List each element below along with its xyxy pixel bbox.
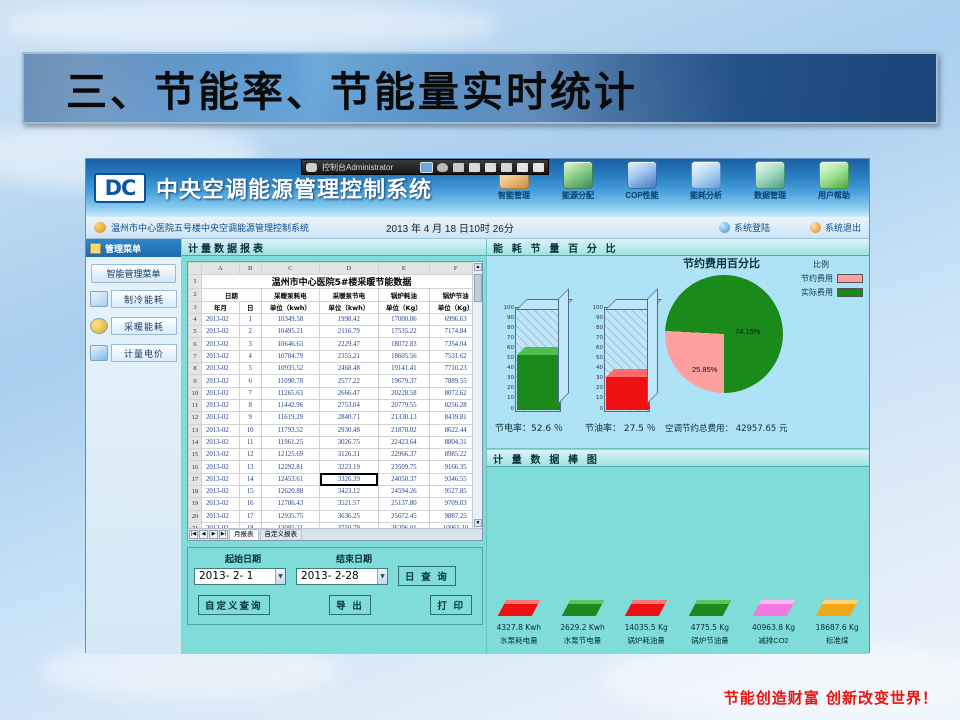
table-row: 152013-021212125.693126.3122966.378985.2… — [189, 449, 482, 461]
cell-pump-consume[interactable]: 10784.79 — [261, 350, 319, 362]
cell-day[interactable]: 8 — [239, 399, 261, 411]
toolbar-label: 智能管理 — [483, 190, 545, 201]
axis-tick: 90 — [507, 315, 514, 321]
book-icon — [691, 161, 721, 189]
table-row: 72013-02410784.792355.2118605.567531.62 — [189, 350, 482, 362]
heating-icon — [90, 318, 108, 334]
cell-day[interactable]: 9 — [239, 412, 261, 424]
sheet-tab-custom[interactable]: 自定义报表 — [260, 529, 303, 540]
gauge-frame — [515, 307, 561, 412]
axis-tick: 100 — [504, 305, 515, 311]
axis-tick: 40 — [507, 365, 514, 371]
bar-item-co2: 40963.8 Kg 减排CO2 — [742, 600, 806, 646]
cell-pump-consume[interactable]: 11793.52 — [261, 424, 319, 436]
cell-yearmonth[interactable]: 2013-02 — [202, 449, 240, 461]
cell-pump-consume[interactable]: 10349.58 — [261, 313, 319, 325]
gauge-front — [606, 377, 649, 410]
cell-pump-save[interactable]: 2753.04 — [320, 399, 378, 411]
axis-tick: 30 — [507, 375, 514, 381]
cell-yearmonth[interactable]: 2013-02 — [202, 522, 240, 528]
cell-boiler-consume[interactable]: 17000.06 — [378, 313, 430, 325]
system-exit-label: 系统退出 — [825, 221, 861, 234]
cell-boiler-consume[interactable]: 25137.80 — [378, 498, 430, 510]
cell-pump-save[interactable]: 2116.79 — [320, 326, 378, 338]
cell-pump-save[interactable]: 3636.25 — [320, 510, 378, 522]
column-header-b[interactable]: B — [239, 263, 261, 275]
axis-tick: 80 — [596, 325, 603, 331]
column-header-d[interactable]: D — [320, 263, 378, 275]
app-title: 中央空调能源管理控制系统 — [156, 172, 432, 204]
cell-pump-save[interactable]: 2229.47 — [320, 338, 378, 350]
axis-tick: 10 — [507, 395, 514, 401]
sheet-tab-bar: |◀ ◀ ▶ ▶| 月报表 自定义报表 — [188, 528, 482, 540]
gauge-top — [606, 369, 657, 377]
row-number[interactable]: 5 — [189, 326, 202, 338]
table-row: 132013-021011793.522930.4821878.028622.4… — [189, 424, 482, 436]
cell-pump-consume[interactable]: 12786.43 — [261, 498, 319, 510]
legend-swatch-actual — [837, 288, 863, 297]
axis-tick: 80 — [507, 325, 514, 331]
remote-console-toolbar[interactable]: 控制台Administrator — [301, 159, 549, 175]
cell-day[interactable]: 13 — [239, 461, 261, 473]
cell-pump-consume[interactable]: 12620.88 — [261, 486, 319, 498]
oil-rate-caption: 节油率： 27.5 ％ — [585, 421, 656, 434]
cell-pump-consume[interactable]: 11619.29 — [261, 412, 319, 424]
bar-label: 锅炉节油量 — [678, 635, 742, 646]
sidebar-item-label: 采暖能耗 — [111, 317, 177, 335]
start-date-input[interactable]: 2013- 2- 1 ▼ — [194, 568, 286, 585]
table-row: 2 日期 采暖泵耗电 采暖泵节电 锅炉耗油 锅炉节油 — [189, 289, 482, 301]
cell-boiler-consume[interactable]: 22423.64 — [378, 436, 430, 448]
legend-item-saved: 节约费用 — [801, 273, 863, 284]
cell-pump-consume[interactable]: 10646.63 — [261, 338, 319, 350]
cell-pump-consume[interactable]: 12935.75 — [261, 510, 319, 522]
savings-pie-chart — [665, 275, 783, 393]
app-status-bar: 温州市中心医院五号楼中央空调能源管理控制系统 2013 年 4 月 18 日10… — [86, 217, 869, 239]
electric-rate-caption: 节电率：52.6 ％ — [495, 421, 563, 434]
table-row: 112013-02811442.962753.0420779.558256.28 — [189, 399, 482, 411]
price-icon — [90, 345, 108, 361]
cell-yearmonth[interactable]: 2013-02 — [202, 375, 240, 387]
axis-tick: 0 — [600, 406, 604, 412]
cell-yearmonth[interactable]: 2013-02 — [202, 473, 240, 485]
cell-yearmonth[interactable]: 2013-02 — [202, 424, 240, 436]
query-button-row: 自定义查询 导 出 打 印 — [188, 587, 482, 615]
row-number[interactable]: 14 — [189, 436, 202, 448]
cell-pump-save[interactable]: 3126.31 — [320, 449, 378, 461]
axis-tick: 60 — [596, 345, 603, 351]
column-header-c[interactable]: C — [261, 263, 319, 275]
cell-boiler-consume[interactable]: 20779.55 — [378, 399, 430, 411]
prev-sheet-icon[interactable]: ◀ — [199, 530, 208, 539]
header-pump-consume: 采暖泵耗电 — [261, 289, 319, 301]
row-number[interactable]: 6 — [189, 338, 202, 350]
cell-day[interactable]: 16 — [239, 498, 261, 510]
header-yearmonth: 年月 — [202, 301, 240, 313]
axis-tick: 20 — [507, 385, 514, 391]
row-number[interactable]: 16 — [189, 461, 202, 473]
cell-yearmonth[interactable]: 2013-02 — [202, 387, 240, 399]
cell-day[interactable]: 14 — [239, 473, 261, 485]
chevron-down-icon[interactable]: ▼ — [275, 569, 285, 584]
scroll-up-icon[interactable]: ▲ — [474, 263, 482, 271]
legend-item-actual: 实际费用 — [801, 287, 863, 298]
datetime-display: 2013 年 4 月 18 日10时 26分 — [386, 220, 514, 235]
cell-day[interactable]: 6 — [239, 375, 261, 387]
gauge-side — [649, 361, 657, 402]
sidebar: 管理菜单 智能管理菜单 制冷能耗 采暖能耗 计量电价 — [86, 239, 182, 654]
bar-item-boiler-save: 4775.5 Kg 锅炉节油量 — [678, 600, 742, 646]
cell-boiler-consume[interactable]: 24050.37 — [378, 473, 430, 485]
cell-pump-consume[interactable]: 11442.96 — [261, 399, 319, 411]
charts-column: 能 耗 节 量 百 分 比 100 90 80 70 60 50 40 30 — [487, 239, 869, 654]
cell-yearmonth[interactable]: 2013-02 — [202, 412, 240, 424]
bar-chip-icon — [561, 600, 604, 616]
folder-icon[interactable] — [453, 163, 464, 172]
bar-value: 14035.5 Kg — [614, 623, 678, 632]
cell-pump-save[interactable]: 3423.12 — [320, 486, 378, 498]
cell-pump-save[interactable]: 2468.48 — [320, 363, 378, 375]
app-body: 管理菜单 智能管理菜单 制冷能耗 采暖能耗 计量电价 计量数据报表 — [86, 239, 869, 654]
sidebar-item-intelligent-menu[interactable]: 智能管理菜单 — [91, 264, 176, 283]
cell-boiler-consume[interactable]: 17535.22 — [378, 326, 430, 338]
sheet-title: 温州市中心医院5#楼采暖节能数据 — [202, 275, 482, 289]
row-number[interactable]: 20 — [189, 510, 202, 522]
sidebar-header-label: 管理菜单 — [105, 242, 141, 255]
mouse-icon[interactable] — [437, 163, 448, 172]
corner-cell[interactable] — [189, 263, 202, 275]
end-date-input[interactable]: 2013- 2-28 ▼ — [296, 568, 388, 585]
spreadsheet[interactable]: A B C D E F 1 — [187, 261, 483, 541]
user-icon — [819, 161, 849, 189]
row-number[interactable]: 11 — [189, 399, 202, 411]
globe-icon — [563, 161, 593, 189]
row-number[interactable]: 1 — [189, 275, 202, 289]
end-date-label: 结束日期 — [298, 552, 410, 565]
volume-icon[interactable] — [533, 163, 544, 172]
day-query-button[interactable]: 日 查 询 — [398, 566, 456, 586]
energy-panel-title: 能 耗 节 量 百 分 比 — [487, 239, 869, 256]
bar-chip-icon — [625, 600, 668, 616]
total-savings-label: 空调节约总费用： 42957.65 元 — [665, 422, 787, 434]
cell-day[interactable]: 5 — [239, 363, 261, 375]
row-number[interactable]: 21 — [189, 522, 202, 528]
header-unit-c: 单位（kwh） — [261, 301, 319, 313]
cell-pump-consume[interactable]: 12453.61 — [261, 473, 319, 485]
table-row: 92013-02611090.782577.2219679.377889.55 — [189, 375, 482, 387]
axis-tick: 40 — [596, 365, 603, 371]
query-row: 2013- 2- 1 ▼ 2013- 2-28 ▼ 日 查 询 — [188, 565, 482, 587]
print-button[interactable]: 打 印 — [430, 595, 472, 615]
bar-label: 减排CO2 — [742, 635, 806, 646]
cell-day[interactable]: 1 — [239, 313, 261, 325]
gauge-frame — [604, 307, 650, 412]
axis-tick: 90 — [596, 315, 603, 321]
cell-boiler-consume[interactable]: 24594.26 — [378, 486, 430, 498]
system-exit-button[interactable]: 系统退出 — [810, 221, 861, 234]
cell-day[interactable]: 11 — [239, 436, 261, 448]
hand-icon[interactable] — [501, 163, 512, 172]
table-row: 172013-021412453.613326.3924050.379346.5… — [189, 473, 482, 485]
monitor-icon[interactable] — [421, 163, 432, 172]
cell-yearmonth[interactable]: 2013-02 — [202, 510, 240, 522]
bar-value: 4327.8 Kwh — [487, 623, 551, 632]
cell-day[interactable]: 18 — [239, 522, 261, 528]
table-row: 3 年月 日 单位（kwh） 单位（kwh） 单位（Kg） 单位（Kg） — [189, 301, 482, 313]
cell-boiler-consume[interactable]: 23509.75 — [378, 461, 430, 473]
pointer-icon[interactable] — [469, 163, 480, 172]
bar-label: 锅炉耗油量 — [614, 635, 678, 646]
cell-pump-save[interactable]: 2930.48 — [320, 424, 378, 436]
table-row: 202013-021712935.753636.2525672.459887.2… — [189, 510, 482, 522]
sidebar-item-label: 计量电价 — [111, 344, 177, 362]
table-row: 192013-021612786.433521.5725137.809709.0… — [189, 498, 482, 510]
cell-yearmonth[interactable]: 2013-02 — [202, 399, 240, 411]
bar-value: 4775.5 Kg — [678, 623, 742, 632]
toolbar-item-energy-allocation[interactable]: 能源分配 — [547, 161, 609, 201]
toolbar-item-user-help[interactable]: 用户帮助 — [803, 161, 865, 201]
login-icon — [719, 222, 730, 233]
console-title: 控制台Administrator — [322, 162, 393, 173]
first-sheet-icon[interactable]: |◀ — [189, 530, 198, 539]
custom-query-button[interactable]: 自定义查询 — [198, 595, 270, 615]
fullscreen-icon[interactable] — [485, 163, 496, 172]
bar-label: 水泵节电量 — [551, 635, 615, 646]
slide-slogan: 节能创造财富 创新改变世界！ — [724, 687, 938, 708]
cell-pump-save[interactable]: 3326.39 — [320, 473, 378, 485]
toolbar-label: 用户帮助 — [803, 190, 865, 201]
gauge-front — [517, 355, 560, 410]
cell-boiler-consume[interactable]: 25672.45 — [378, 510, 430, 522]
row-number[interactable]: 19 — [189, 498, 202, 510]
scroll-down-icon[interactable]: ▼ — [474, 519, 482, 527]
table-row: 162013-021312292.813223.1923509.759166.3… — [189, 461, 482, 473]
pie-legend: 节约费用 实际费用 — [801, 273, 863, 301]
report-table: A B C D E F 1 — [188, 262, 482, 528]
legend-title: 比例 — [813, 259, 829, 270]
table-row: 182013-021512620.883423.1224594.269527.8… — [189, 486, 482, 498]
table-row: 102013-02711265.632666.4720228.588072.62 — [189, 387, 482, 399]
cell-yearmonth[interactable]: 2013-02 — [202, 326, 240, 338]
cell-pump-save[interactable]: 2577.22 — [320, 375, 378, 387]
gauge-axis: 100 90 80 70 60 50 40 30 20 10 0 — [590, 307, 604, 412]
column-header-row: A B C D E F — [189, 263, 482, 275]
cell-pump-save[interactable]: 2840.71 — [320, 412, 378, 424]
cell-day[interactable]: 7 — [239, 387, 261, 399]
table-row: 1 温州市中心医院5#楼采暖节能数据 — [189, 275, 482, 289]
cell-boiler-consume[interactable]: 26206.01 — [378, 522, 430, 528]
toolbar-label: 能源分配 — [547, 190, 609, 201]
slide-title-banner: 三、节能率、节能量实时统计 — [22, 52, 938, 124]
cell-yearmonth[interactable]: 2013-02 — [202, 338, 240, 350]
gauge-fill-electric — [517, 355, 560, 410]
axis-tick: 50 — [596, 355, 603, 361]
toolbar-item-data-management[interactable]: 数据管理 — [739, 161, 801, 201]
pie-chart-title: 节约费用百分比 — [683, 255, 760, 271]
header-boiler-consume: 锅炉耗油 — [378, 289, 430, 301]
cell-pump-save[interactable]: 3223.19 — [320, 461, 378, 473]
query-labels: 起始日期 结束日期 — [188, 548, 482, 565]
row-number[interactable]: 4 — [189, 313, 202, 325]
scroll-thumb[interactable] — [474, 274, 482, 302]
cell-yearmonth[interactable]: 2013-02 — [202, 436, 240, 448]
site-icon — [94, 222, 106, 233]
cell-pump-consume[interactable]: 13085.21 — [261, 522, 319, 528]
menu-icon — [90, 243, 101, 254]
cell-boiler-consume[interactable]: 21330.13 — [378, 412, 430, 424]
bar-panel-title: 计 量 数 据 棒 图 — [487, 450, 869, 467]
header-date: 日期 — [202, 289, 262, 301]
bar-value: 2629.2 Kwh — [551, 623, 615, 632]
toolbar-label: 数据管理 — [739, 190, 801, 201]
cell-yearmonth[interactable]: 2013-02 — [202, 313, 240, 325]
sidebar-item-cooling[interactable]: 制冷能耗 — [90, 290, 177, 308]
report-panel-title: 计量数据报表 — [182, 239, 486, 256]
cell-yearmonth[interactable]: 2013-02 — [202, 498, 240, 510]
bar-items-row: 4327.8 Kwh 水泵耗电量 2629.2 Kwh 水泵节电量 14035.… — [487, 600, 869, 646]
energy-percent-panel: 能 耗 节 量 百 分 比 100 90 80 70 60 50 40 30 — [487, 239, 869, 449]
cell-boiler-consume[interactable]: 21878.02 — [378, 424, 430, 436]
cell-pump-save[interactable]: 3750.79 — [320, 522, 378, 528]
next-sheet-icon[interactable]: ▶ — [209, 530, 218, 539]
bar-chip-icon — [816, 600, 859, 616]
bar-item-standard-coal: 18687.6 Kg 标准煤 — [805, 600, 869, 646]
cell-day[interactable]: 4 — [239, 350, 261, 362]
axis-tick: 70 — [507, 335, 514, 341]
site-name: 温州市中心医院五号楼中央空调能源管理控制系统 — [111, 221, 309, 234]
row-number[interactable]: 2 — [189, 289, 202, 301]
bar-item-boiler-consume: 14035.5 Kg 锅炉耗油量 — [614, 600, 678, 646]
header-day: 日 — [239, 301, 261, 313]
cell-yearmonth[interactable]: 2013-02 — [202, 363, 240, 375]
row-number[interactable]: 8 — [189, 363, 202, 375]
legend-label: 节约费用 — [801, 273, 833, 284]
pen-icon — [627, 161, 657, 189]
gauge-fill-oil — [606, 377, 649, 410]
bar-label: 标准煤 — [805, 635, 869, 646]
cell-pump-consume[interactable]: 11961.25 — [261, 436, 319, 448]
sheet-tab-monthly[interactable]: 月报表 — [229, 529, 259, 540]
cell-pump-save[interactable]: 3521.57 — [320, 498, 378, 510]
cell-pump-save[interactable]: 3026.75 — [320, 436, 378, 448]
cell-boiler-consume[interactable]: 20228.58 — [378, 387, 430, 399]
toolbar-label: COP性能 — [611, 190, 673, 201]
bar-label: 水泵耗电量 — [487, 635, 551, 646]
gauge-side — [560, 339, 568, 402]
sidebar-item-price[interactable]: 计量电价 — [90, 344, 177, 362]
gauge-axis: 100 90 80 70 60 50 40 30 20 10 0 — [501, 307, 515, 412]
cell-pump-consume[interactable]: 12292.81 — [261, 461, 319, 473]
bar-chip-icon — [498, 600, 541, 616]
cell-pump-consume[interactable]: 10495.21 — [261, 326, 319, 338]
gauge-top — [517, 347, 568, 355]
sidebar-header: 管理菜单 — [86, 239, 181, 257]
cell-boiler-consume[interactable]: 19141.41 — [378, 363, 430, 375]
bar-value: 40963.8 Kg — [742, 623, 806, 632]
cell-day[interactable]: 12 — [239, 449, 261, 461]
pie-label-saved: 25.85% — [692, 365, 717, 374]
cell-pump-consume[interactable]: 11090.78 — [261, 375, 319, 387]
toolbar-item-cop-performance[interactable]: COP性能 — [611, 161, 673, 201]
cell-pump-consume[interactable]: 12125.69 — [261, 449, 319, 461]
axis-tick: 20 — [596, 385, 603, 391]
header-unit-e: 单位（Kg） — [378, 301, 430, 313]
system-login-button[interactable]: 系统登陆 — [719, 221, 770, 234]
cell-pump-consume[interactable]: 10935.52 — [261, 363, 319, 375]
row-number[interactable]: 13 — [189, 424, 202, 436]
export-button[interactable]: 导 出 — [329, 595, 371, 615]
report-column: 计量数据报表 A B C D E — [182, 239, 487, 654]
cell-boiler-consume[interactable]: 18072.83 — [378, 338, 430, 350]
row-number[interactable]: 9 — [189, 375, 202, 387]
vertical-scrollbar[interactable]: ▲ ▼ — [472, 262, 482, 528]
cell-day[interactable]: 3 — [239, 338, 261, 350]
bar-chip-icon — [689, 600, 732, 616]
column-header-a[interactable]: A — [202, 263, 240, 275]
last-sheet-icon[interactable]: ▶| — [219, 530, 228, 539]
cell-day[interactable]: 17 — [239, 510, 261, 522]
bar-value: 18687.6 Kg — [805, 623, 869, 632]
cooling-icon — [90, 291, 108, 307]
measurement-bar-panel: 计 量 数 据 棒 图 4327.8 Kwh 水泵耗电量 2629.2 Kwh … — [487, 450, 869, 654]
cell-boiler-consume[interactable]: 19679.37 — [378, 375, 430, 387]
sidebar-item-label: 制冷能耗 — [111, 290, 177, 308]
header-unit-d: 单位（kwh） — [320, 301, 378, 313]
page-title: 三、节能率、节能量实时统计 — [66, 58, 638, 118]
cell-day[interactable]: 15 — [239, 486, 261, 498]
cell-pump-save[interactable]: 1998.42 — [320, 313, 378, 325]
axis-tick: 30 — [596, 375, 603, 381]
cell-pump-consume[interactable]: 11265.63 — [261, 387, 319, 399]
bar-chip-icon — [752, 600, 795, 616]
toolbar-item-consumption-analysis[interactable]: 能耗分析 — [675, 161, 737, 201]
report-table-body: 1 温州市中心医院5#楼采暖节能数据 2 日期 采暖泵耗电 采暖泵节电 锅炉耗油 — [189, 275, 482, 528]
keyboard-icon[interactable] — [517, 163, 528, 172]
legend-label: 实际费用 — [801, 287, 833, 298]
row-number[interactable]: 15 — [189, 449, 202, 461]
cell-pump-save[interactable]: 2355.21 — [320, 350, 378, 362]
legend-swatch-saved — [837, 274, 863, 283]
table-row: 142013-021111961.253026.7522423.648804.3… — [189, 436, 482, 448]
application-window: 控制台Administrator DC 中央空调能源管理控制系统 智能管理 能源… — [85, 158, 870, 653]
cell-boiler-consume[interactable]: 22966.37 — [378, 449, 430, 461]
axis-tick: 0 — [511, 406, 515, 412]
cell-yearmonth[interactable]: 2013-02 — [202, 350, 240, 362]
row-number[interactable]: 7 — [189, 350, 202, 362]
row-number[interactable]: 12 — [189, 412, 202, 424]
row-number[interactable]: 18 — [189, 486, 202, 498]
row-number[interactable]: 17 — [189, 473, 202, 485]
cell-boiler-consume[interactable]: 18605.56 — [378, 350, 430, 362]
monitor-icon — [306, 163, 317, 172]
sidebar-item-heating[interactable]: 采暖能耗 — [90, 317, 177, 335]
column-header-e[interactable]: E — [378, 263, 430, 275]
cell-yearmonth[interactable]: 2013-02 — [202, 486, 240, 498]
cell-day[interactable]: 10 — [239, 424, 261, 436]
row-number[interactable]: 10 — [189, 387, 202, 399]
table-row: 62013-02310646.632229.4718072.837354.04 — [189, 338, 482, 350]
cell-yearmonth[interactable]: 2013-02 — [202, 461, 240, 473]
database-icon — [755, 161, 785, 189]
cloud-decor — [0, 0, 500, 50]
chevron-down-icon[interactable]: ▼ — [377, 569, 387, 584]
pie-label-actual: 74.15% — [735, 327, 760, 336]
axis-tick: 100 — [593, 305, 604, 311]
main-content: 计量数据报表 A B C D E — [182, 239, 869, 654]
cell-pump-save[interactable]: 2666.47 — [320, 387, 378, 399]
cell-day[interactable]: 2 — [239, 326, 261, 338]
row-number[interactable]: 3 — [189, 301, 202, 313]
